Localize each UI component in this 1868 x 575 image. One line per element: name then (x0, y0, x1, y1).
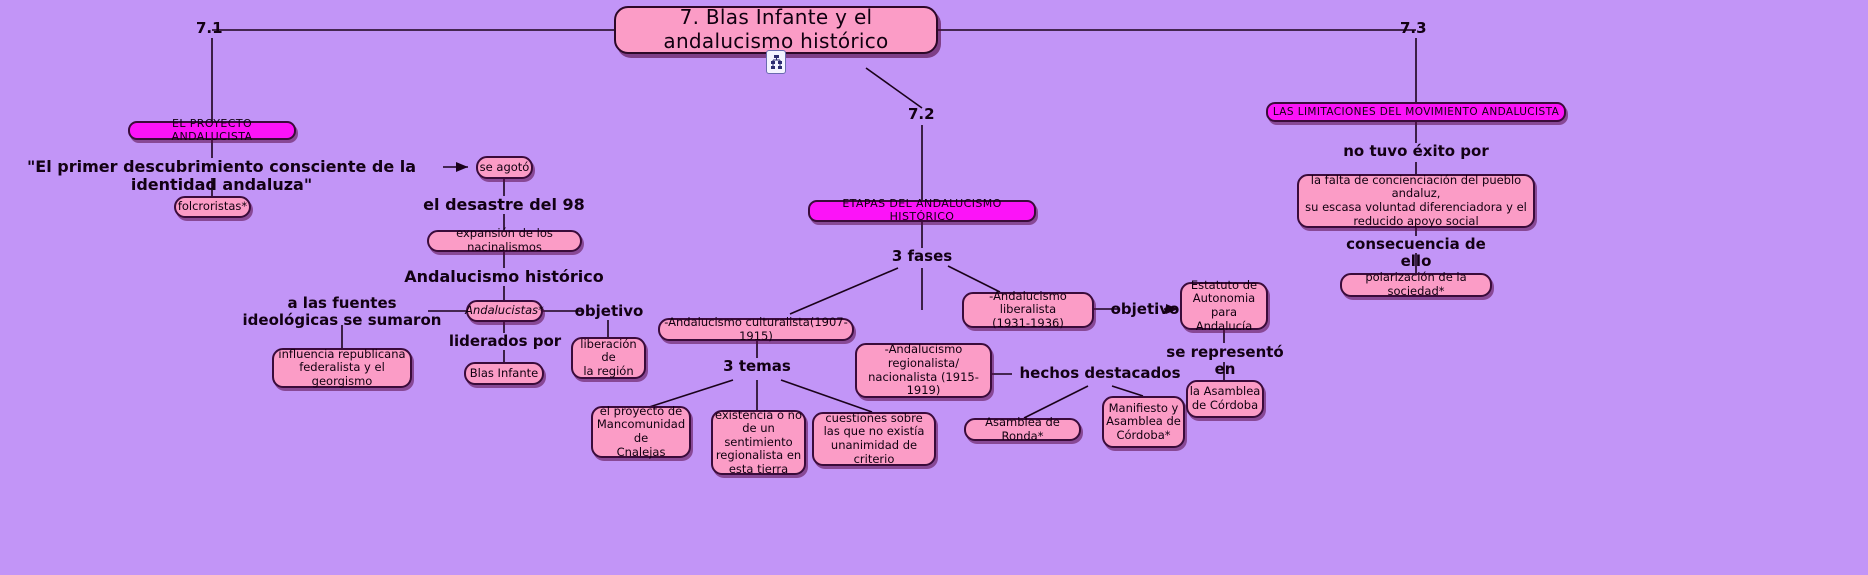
node-asamblea-ronda[interactable]: Asamblea de Ronda* (964, 418, 1081, 441)
node-andalucismo-liberalista[interactable]: -Andalucismo liberalista (1931-1936) (962, 292, 1094, 328)
node-asamblea-cordoba[interactable]: la Asamblea de Córdoba (1186, 380, 1264, 418)
node-andalucistas[interactable]: Andalucistas* (466, 300, 543, 322)
node-etapas-andalucismo[interactable]: ETAPAS DEL ANDALUCISMO HISTÓRICO (808, 200, 1036, 222)
label-liderados-por: liderados por (440, 333, 570, 350)
label-no-tuvo-exito: no tuvo éxito por (1326, 143, 1506, 160)
label-3-fases: 3 fases (872, 248, 972, 265)
arrowhead (456, 162, 468, 172)
node-andalucismo-culturalista[interactable]: -Andalucismo culturalista(1907-1915) (658, 318, 854, 341)
node-influencia-republicana[interactable]: influencia republicana federalista y el … (272, 348, 412, 388)
node-folcroristas[interactable]: folcroristas* (174, 196, 251, 218)
label-objetivo-derecha: objetivo (1110, 301, 1180, 318)
label-consecuencia-de-ello: consecuencia de ello (1330, 236, 1502, 271)
node-limitaciones-movimiento[interactable]: LAS LIMITACIONES DEL MOVIMIENTO ANDALUCI… (1266, 102, 1566, 122)
label-objetivo-izquierda: objetivo (574, 303, 644, 320)
label-andalucismo-historico: Andalucismo histórico (394, 268, 614, 286)
node-blas-infante[interactable]: Blas Infante (464, 362, 544, 385)
node-liberacion-region[interactable]: liberación de la región (571, 337, 646, 379)
node-expansion-nacionalismos[interactable]: expansión de los nacinalismos (427, 230, 582, 252)
node-cuestiones-sin-unanimidad[interactable]: cuestiones sobre las que no existía unan… (812, 412, 936, 466)
label-se-represento-en: se representó en (1160, 344, 1290, 379)
branch-number-7-1: 7.1 (196, 20, 223, 37)
node-manifiesto-asamblea-cordoba[interactable]: Manifiesto y Asamblea de Córdoba* (1102, 396, 1185, 448)
label-3-temas: 3 temas (707, 358, 807, 375)
tree-glyph (770, 54, 783, 70)
branch-number-7-2: 7.2 (908, 106, 935, 123)
node-proyecto-andalucista[interactable]: EL PROYECTO ANDALUCISTA (128, 121, 296, 140)
label-desastre-98: el desastre del 98 (404, 196, 604, 214)
label-fuentes-ideologicas: a las fuentes ideológicas se sumaron (242, 295, 442, 330)
node-estatuto-autonomia[interactable]: Estatuto de Autonomia para Andalucía (1180, 282, 1268, 330)
node-falta-concienciacion[interactable]: la falta de concienciación del pueblo an… (1297, 174, 1535, 228)
branch-number-7-3: 7.3 (1400, 20, 1427, 37)
node-andalucismo-regionalista[interactable]: -Andalucismo regionalista/ nacionalista … (855, 343, 992, 398)
node-mancomunidad-canalejas[interactable]: el proyecto de Mancomunidad de Cnalejas (591, 406, 691, 458)
concept-map-icon[interactable] (766, 50, 786, 74)
label-primer-descubrimiento: "El primer descubrimiento consciente de … (0, 158, 443, 195)
node-se-agoto[interactable]: se agotó (476, 156, 533, 179)
node-sentimiento-regionalista[interactable]: existencia o no de un sentimiento region… (711, 410, 806, 475)
node-polarizacion-sociedad[interactable]: polarización de la sociedad* (1340, 273, 1492, 297)
map-title-node[interactable]: 7. Blas Infante y el andalucismo históri… (614, 6, 938, 54)
concept-map-connectors (0, 0, 1868, 575)
